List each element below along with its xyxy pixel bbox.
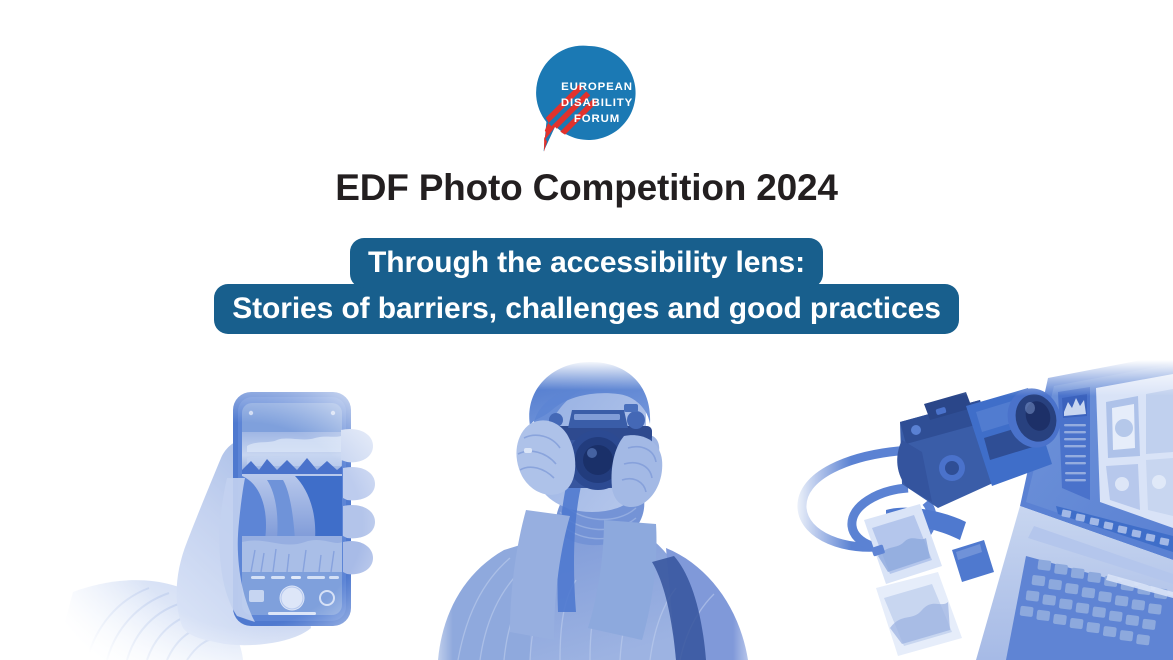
photo-dslr-and-laptop-graphic bbox=[790, 360, 1173, 660]
subtitle-banner: Through the accessibility lens: Stories … bbox=[0, 238, 1173, 334]
photo-dslr-and-laptop bbox=[790, 360, 1173, 660]
logo-text-line-3: FORUM bbox=[574, 113, 620, 125]
subtitle-line-1: Through the accessibility lens: bbox=[350, 238, 823, 288]
subtitle-row-2: Stories of barriers, challenges and good… bbox=[0, 288, 1173, 334]
edge-fade-sides bbox=[418, 360, 768, 660]
edf-logo: EUROPEAN DISABILITY FORUM bbox=[513, 38, 653, 156]
edf-logo-graphic: EUROPEAN DISABILITY FORUM bbox=[513, 38, 653, 156]
photo-photographer-graphic bbox=[418, 360, 768, 660]
photo-photographer-with-film-camera bbox=[418, 360, 768, 660]
subtitle-line-2: Stories of barriers, challenges and good… bbox=[214, 284, 959, 334]
edge-fade bbox=[55, 360, 400, 660]
page-title: EDF Photo Competition 2024 bbox=[0, 167, 1173, 209]
photo-hand-holding-smartphone-graphic bbox=[55, 360, 400, 660]
photo-hand-holding-smartphone bbox=[55, 360, 400, 660]
logo-text-line-2: DISABILITY bbox=[561, 97, 633, 109]
photo-strip bbox=[0, 355, 1173, 660]
logo-text-line-1: EUROPEAN bbox=[561, 81, 633, 93]
edge-fade-top bbox=[790, 360, 1173, 660]
subtitle-row-1: Through the accessibility lens: bbox=[0, 238, 1173, 288]
poster-canvas: EUROPEAN DISABILITY FORUM EDF Photo Comp… bbox=[0, 0, 1173, 660]
